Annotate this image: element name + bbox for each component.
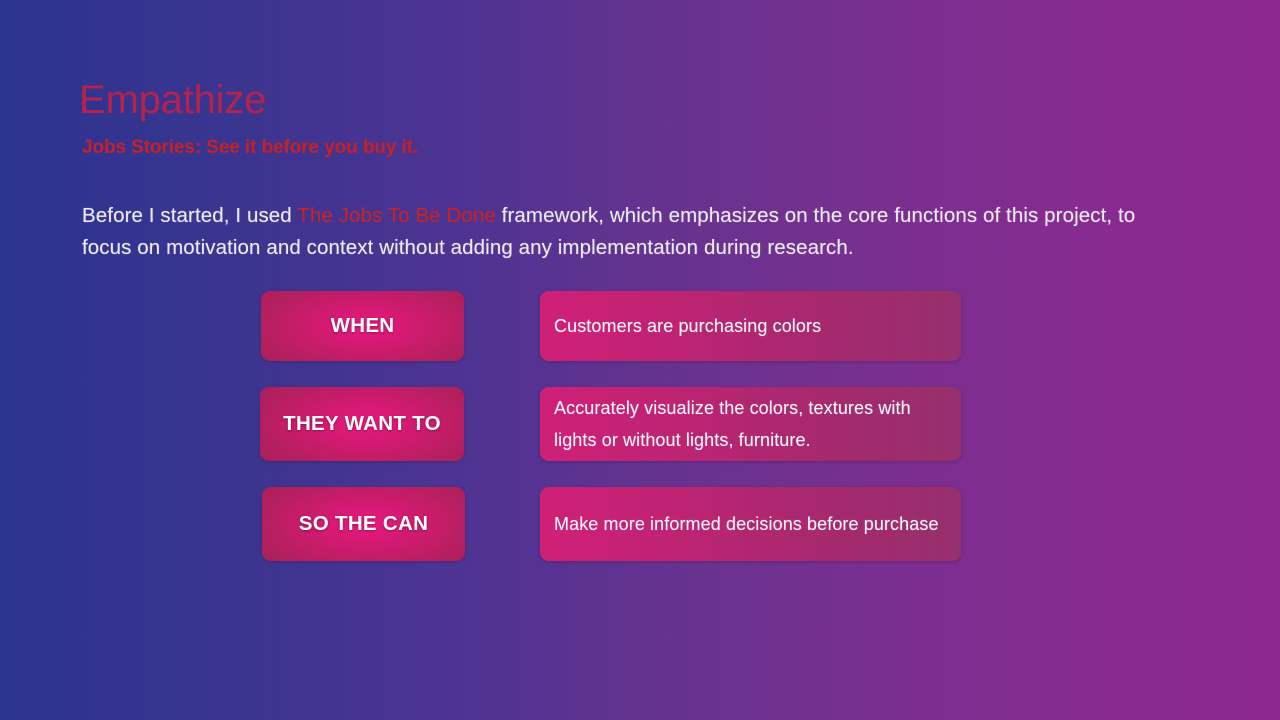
jobs-story-content-box-when[interactable]: Customers are purchasing colors (540, 291, 961, 361)
jobs-story-row: SO THE CAN Make more informed decisions … (261, 487, 961, 561)
page-title: Empathize (79, 77, 266, 123)
presentation-slide: Empathize Jobs Stories: See it before yo… (0, 0, 1280, 720)
jobs-story-content: Make more informed decisions before purc… (554, 508, 939, 540)
jobs-story-row: WHEN Customers are purchasing colors (261, 291, 961, 361)
jobs-story-label-box-they-want-to[interactable]: THEY WANT TO (260, 387, 464, 461)
jobs-story-content: Accurately visualize the colors, texture… (554, 392, 945, 456)
slide-subtitle: Jobs Stories: See it before you buy it. (82, 137, 418, 160)
jobs-story-label-box-when[interactable]: WHEN (261, 291, 464, 361)
jobs-stories-grid: WHEN Customers are purchasing colors THE… (261, 291, 961, 561)
intro-paragraph: Before I started, I used The Jobs To Be … (82, 200, 1157, 264)
jobs-story-label: SO THE CAN (299, 512, 428, 536)
jobs-story-row: THEY WANT TO Accurately visualize the co… (261, 387, 961, 461)
jobs-story-content-box-they-want-to[interactable]: Accurately visualize the colors, texture… (540, 387, 961, 461)
jobs-story-content: Customers are purchasing colors (554, 310, 821, 342)
jobs-story-label: WHEN (331, 314, 395, 338)
paragraph-text-before-link: Before I started, I used (82, 204, 297, 227)
jobs-story-label-box-so-the-can[interactable]: SO THE CAN (262, 487, 465, 561)
jobs-story-label: THEY WANT TO (283, 412, 441, 436)
jobs-story-content-box-so-the-can[interactable]: Make more informed decisions before purc… (540, 487, 961, 561)
jobs-to-be-done-link[interactable]: The Jobs To Be Done (297, 204, 496, 227)
